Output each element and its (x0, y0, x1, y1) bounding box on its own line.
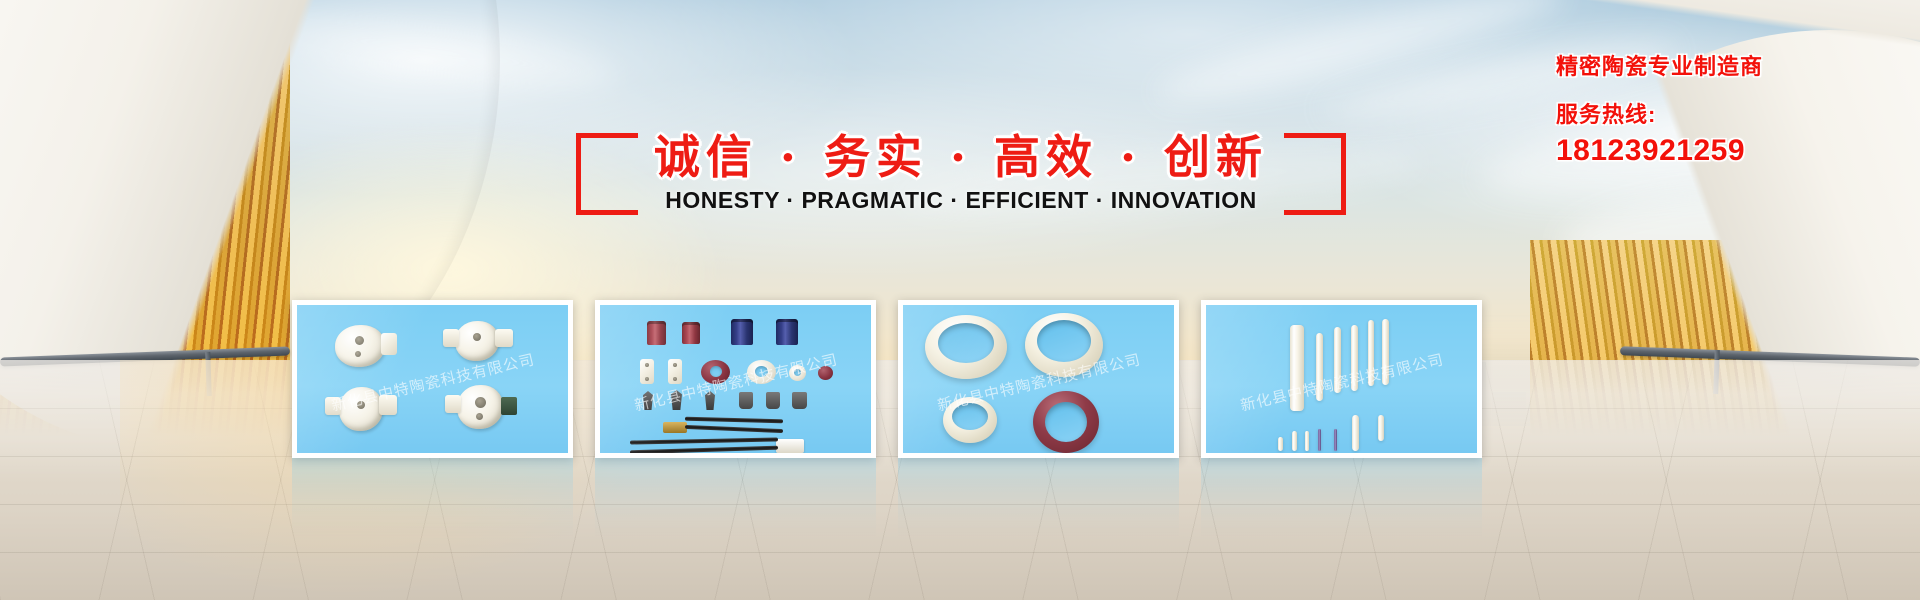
hero-banner: 诚信 · 务实 · 高效 · 创新 HONESTY · PRAGMATIC · … (0, 0, 1920, 600)
company-tagline: 精密陶瓷专业制造商 (1556, 52, 1896, 82)
slogan-block: 诚信 · 务实 · 高效 · 创新 HONESTY · PRAGMATIC · … (576, 125, 1346, 233)
panel-image: 新化县中特陶瓷科技有限公司 (1206, 305, 1477, 453)
panel-image: 新化县中特陶瓷科技有限公司 (600, 305, 871, 453)
product-panel-ceramic-lamp-holders[interactable]: 新化县中特陶瓷科技有限公司 (292, 300, 573, 458)
panel-image: 新化县中特陶瓷科技有限公司 (903, 305, 1174, 453)
panel-highlight (297, 305, 568, 453)
panel-watermark: 新化县中特陶瓷科技有限公司 (1238, 348, 1445, 415)
product-panel-ceramic-tubes[interactable]: 新化县中特陶瓷科技有限公司 (595, 300, 876, 458)
product-panel-ceramic-rods[interactable]: 新化县中特陶瓷科技有限公司 (1201, 300, 1482, 458)
product-panel-ceramic-rings[interactable]: 新化县中特陶瓷科技有限公司 (898, 300, 1179, 458)
product-panel-row: 新化县中特陶瓷科技有限公司 (292, 300, 1482, 458)
hotline-label: 服务热线: (1556, 100, 1896, 130)
panel-watermark: 新化县中特陶瓷科技有限公司 (632, 348, 839, 415)
contact-block: 精密陶瓷专业制造商 服务热线: 18123921259 (1556, 52, 1896, 172)
hotline-number[interactable]: 18123921259 (1556, 131, 1896, 172)
panel-highlight (1206, 305, 1477, 453)
page-subtitle: HONESTY · PRAGMATIC · EFFICIENT · INNOVA… (576, 187, 1346, 214)
page-title: 诚信 · 务实 · 高效 · 创新 (576, 121, 1346, 187)
panel-image: 新化县中特陶瓷科技有限公司 (297, 305, 568, 453)
